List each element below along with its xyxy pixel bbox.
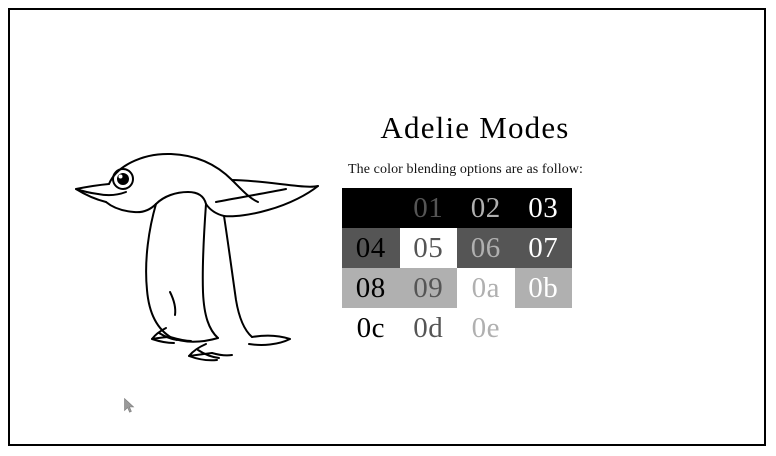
adelie-penguin-illustration xyxy=(46,132,326,372)
modes-grid-cell-06[interactable]: 06 xyxy=(457,228,515,268)
modes-grid-cell-02[interactable]: 02 xyxy=(457,188,515,228)
modes-grid-row: 08090a0b xyxy=(342,268,572,308)
modes-grid-cell-0e[interactable]: 0e xyxy=(457,308,515,348)
modes-grid-cell-08[interactable]: 08 xyxy=(342,268,400,308)
subtitle-text: The color blending options are as follow… xyxy=(348,162,583,178)
modes-grid-cell-05[interactable]: 05 xyxy=(400,228,458,268)
drawing-canvas[interactable]: Adelie Modes The color blending options … xyxy=(10,10,764,444)
modes-grid-cell-0d[interactable]: 0d xyxy=(400,308,458,348)
modes-grid-cell-0b[interactable]: 0b xyxy=(515,268,573,308)
modes-grid-cell-03[interactable]: 03 xyxy=(515,188,573,228)
application-window: Adelie Modes The color blending options … xyxy=(8,8,766,446)
modes-grid-row: 0c0d0e xyxy=(342,308,572,348)
modes-grid-cell-00[interactable]: 00 xyxy=(342,188,400,228)
modes-grid-row: 00010203 xyxy=(342,188,572,228)
color-modes-grid: 000102030405060708090a0b0c0d0e xyxy=(342,188,572,348)
mouse-pointer-icon xyxy=(124,398,135,414)
modes-grid-cell-04[interactable]: 04 xyxy=(342,228,400,268)
modes-grid-cell-0c[interactable]: 0c xyxy=(342,308,400,348)
modes-grid-cell-0a[interactable]: 0a xyxy=(457,268,515,308)
modes-grid-cell-09[interactable]: 09 xyxy=(400,268,458,308)
modes-grid-cell-07[interactable]: 07 xyxy=(515,228,573,268)
page-title: Adelie Modes xyxy=(330,110,620,146)
modes-grid-cell-01[interactable]: 01 xyxy=(400,188,458,228)
modes-grid-row: 04050607 xyxy=(342,228,572,268)
modes-grid-cell-empty xyxy=(515,308,573,348)
